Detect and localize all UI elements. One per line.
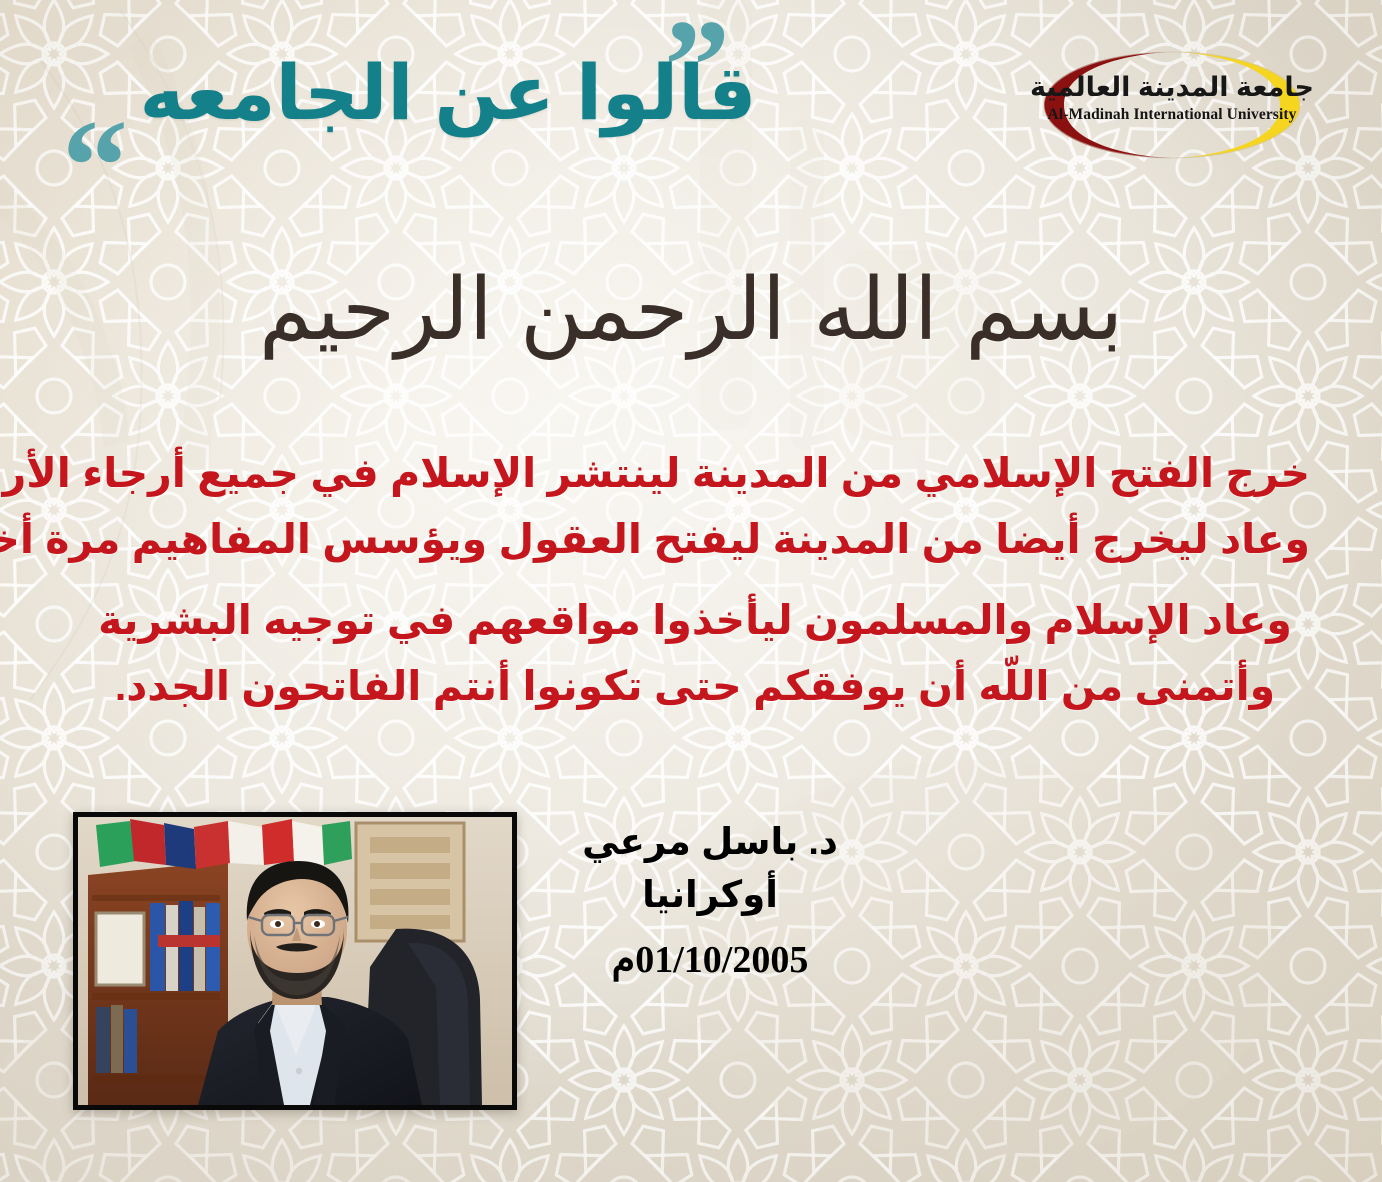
basmala-text: بسم الله الرحمن الرحيم [259,252,1123,368]
speaker-country: أوكرانيا [560,870,860,920]
poster-canvas: “ ” قالوا عن الجامعه جامعة المدينة العال… [0,0,1382,1182]
university-logo: جامعة المدينة العالمية Al-Madinah Intern… [1022,46,1322,164]
quote-line: وأتمنى من اللّه أن يوفقكم حتى تكونوا أنت… [80,653,1310,719]
page-title: قالوا عن الجامعه [138,56,758,132]
basmala-block: بسم الله الرحمن الرحيم [0,252,1382,368]
logo-arabic-name: جامعة المدينة العالمية [1022,72,1322,103]
quote-line: وعاد ليخرج أيضا من المدينة ليفتح العقول … [80,506,1310,572]
quote-line: خرج الفتح الإسلامي من المدينة لينتشر الإ… [80,440,1310,506]
opening-quote-icon: “ [62,100,128,232]
quote-line: وعاد الإسلام والمسلمون ليأخذوا مواقعهم ف… [80,587,1310,653]
quote-body: خرج الفتح الإسلامي من المدينة لينتشر الإ… [80,440,1310,720]
speaker-name: د. باسل مرعي [560,818,860,866]
speaker-photo [73,812,517,1110]
logo-english-name: Al-Madinah International University [1022,106,1322,124]
attribution-block: د. باسل مرعي أوكرانيا 01/10/2005م [560,818,860,985]
speech-date: 01/10/2005م [560,936,860,985]
